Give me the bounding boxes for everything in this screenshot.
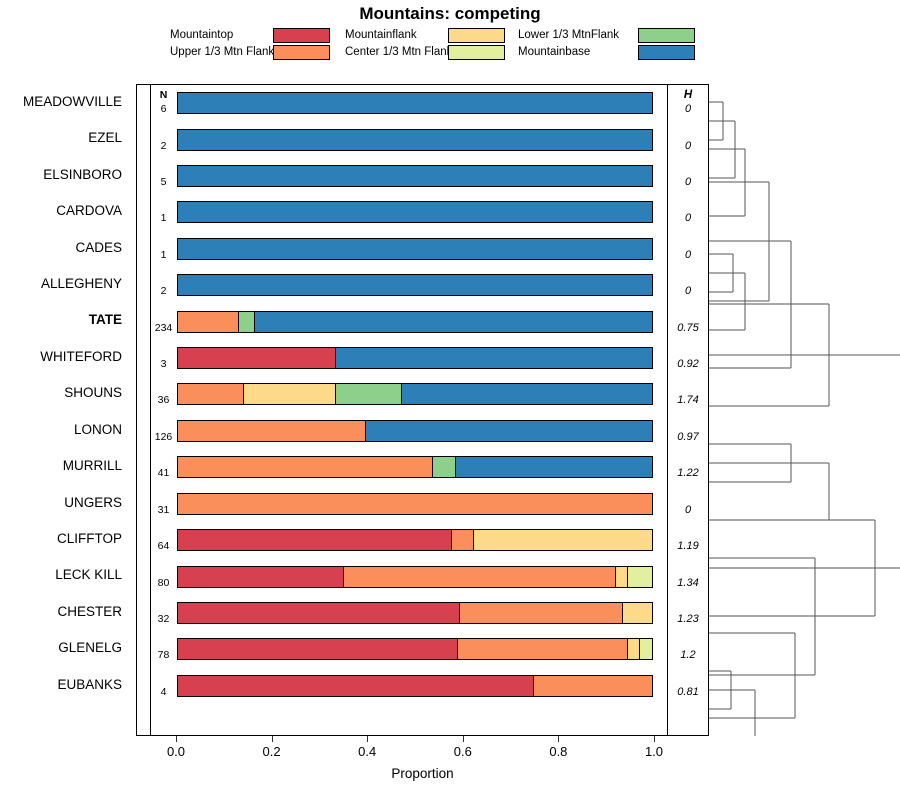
x-axis: Proportion 0.00.20.40.60.81.0 — [136, 736, 709, 796]
h-value: 0 — [668, 176, 708, 188]
plot-panel: N H 6020501010202340.7530.92361.741260.9… — [136, 84, 709, 736]
y-axis-label: MURRILL — [63, 448, 122, 484]
n-value: 2 — [151, 141, 176, 152]
h-value: 1.74 — [668, 394, 708, 406]
bar-row: 50 — [137, 158, 708, 194]
y-axis-label: UNGERS — [64, 485, 122, 521]
legend-swatch-upper13 — [273, 45, 330, 60]
bar-segment[interactable] — [452, 530, 474, 550]
bar-segment[interactable] — [178, 275, 652, 295]
bar-segment[interactable] — [628, 567, 652, 587]
bar-row: 641.19 — [137, 522, 708, 558]
h-value: 0 — [668, 249, 708, 261]
h-value: 0.81 — [668, 686, 708, 698]
n-value: 2 — [151, 286, 176, 297]
legend-item-mountaintop: Mountaintop — [170, 27, 330, 44]
y-axis-label: SHOUNS — [64, 375, 122, 411]
y-axis-label: ALLEGHENY — [41, 266, 122, 302]
x-axis-tick — [654, 736, 655, 742]
bar-segment[interactable] — [336, 348, 652, 368]
dendrogram — [709, 84, 900, 736]
x-axis-tick-label: 0.6 — [443, 744, 483, 759]
bar-segment[interactable] — [178, 166, 652, 186]
n-value: 3 — [151, 359, 176, 370]
dendrogram-svg — [709, 84, 900, 736]
bar-row: 801.34 — [137, 558, 708, 594]
n-value: 80 — [151, 578, 176, 589]
y-axis-label: CHESTER — [57, 594, 122, 630]
legend-item-center13: Center 1/3 Mtn Flank — [345, 44, 505, 61]
bar-segment[interactable] — [616, 567, 628, 587]
bar-segment[interactable] — [456, 457, 652, 477]
bar-segment[interactable] — [178, 530, 452, 550]
bar-row: 361.74 — [137, 376, 708, 412]
legend-label-mountainbase: Mountainbase — [518, 45, 590, 60]
bar-segment[interactable] — [178, 130, 652, 150]
chart-root: Mountains: competing Mountaintop Upper 1… — [0, 0, 900, 800]
h-value: 1.19 — [668, 540, 708, 552]
stacked-bar[interactable] — [177, 566, 653, 588]
y-axis-label: ELSINBORO — [43, 157, 122, 193]
stacked-bar[interactable] — [177, 602, 653, 624]
h-value: 0 — [668, 103, 708, 115]
chart-title: Mountains: competing — [0, 4, 900, 24]
bar-row: 321.23 — [137, 595, 708, 631]
bar-row: 30.92 — [137, 340, 708, 376]
bar-row: 40.81 — [137, 668, 708, 704]
bar-segment[interactable] — [178, 93, 652, 113]
y-axis-label: GLENELG — [58, 630, 122, 666]
stacked-bar[interactable] — [177, 529, 653, 551]
h-value: 0 — [668, 504, 708, 516]
y-axis-label: EZEL — [88, 120, 122, 156]
legend-swatch-mountainbase — [638, 45, 695, 60]
stacked-bar[interactable] — [177, 165, 653, 187]
legend-swatch-lower13 — [638, 28, 695, 43]
h-value: 0 — [668, 140, 708, 152]
stacked-bar[interactable] — [177, 274, 653, 296]
h-value: 0 — [668, 212, 708, 224]
legend-column-1: Mountainflank Center 1/3 Mtn Flank — [345, 27, 505, 61]
legend-swatch-center13 — [448, 45, 505, 60]
bar-segment[interactable] — [178, 312, 239, 332]
n-value: 41 — [151, 468, 176, 479]
n-value: 36 — [151, 395, 176, 406]
n-value: 1 — [151, 213, 176, 224]
stacked-bar[interactable] — [177, 456, 653, 478]
n-value: 32 — [151, 614, 176, 625]
bar-segment[interactable] — [178, 348, 336, 368]
bar-segment[interactable] — [640, 639, 652, 659]
legend-label-center13: Center 1/3 Mtn Flank — [345, 45, 452, 60]
n-value: 78 — [151, 650, 176, 661]
n-value: 64 — [151, 541, 176, 552]
stacked-bar[interactable] — [177, 238, 653, 260]
stacked-bar[interactable] — [177, 347, 653, 369]
y-axis-label: CADES — [75, 230, 122, 266]
bar-segment[interactable] — [178, 457, 433, 477]
legend-label-upper13: Upper 1/3 Mtn Flank — [170, 45, 274, 60]
bar-segment[interactable] — [623, 603, 652, 623]
x-axis-tick — [272, 736, 273, 742]
stacked-bar[interactable] — [177, 92, 653, 114]
x-axis-tick — [558, 736, 559, 742]
x-axis-tick-label: 0.8 — [538, 744, 578, 759]
bar-row: 10 — [137, 231, 708, 267]
legend-item-lower13: Lower 1/3 MtnFlank — [518, 27, 678, 44]
bar-row: 20 — [137, 121, 708, 157]
n-value: 1 — [151, 250, 176, 261]
bar-segment[interactable] — [178, 421, 366, 441]
y-axis-label: TATE — [89, 302, 122, 338]
x-axis-tick-label: 0.2 — [252, 744, 292, 759]
bar-segment[interactable] — [433, 457, 456, 477]
bar-row: 781.2 — [137, 631, 708, 667]
stacked-bar[interactable] — [177, 675, 653, 697]
bar-segment[interactable] — [474, 530, 652, 550]
h-value: 0.92 — [668, 358, 708, 370]
stacked-bar[interactable] — [177, 638, 653, 660]
x-axis-title: Proportion — [136, 766, 709, 781]
x-axis-tick-label: 0.0 — [156, 744, 196, 759]
bar-segment[interactable] — [255, 312, 652, 332]
y-axis-label: LONON — [74, 412, 122, 448]
bar-segment[interactable] — [178, 603, 460, 623]
bar-rows: 6020501010202340.7530.92361.741260.97411… — [137, 85, 708, 704]
y-axis-label: EUBANKS — [57, 667, 122, 703]
h-value: 1.2 — [668, 649, 708, 661]
bar-row: 2340.75 — [137, 303, 708, 339]
bar-row: 411.22 — [137, 449, 708, 485]
stacked-bar[interactable] — [177, 311, 653, 333]
x-axis-tick — [176, 736, 177, 742]
legend-column-2: Lower 1/3 MtnFlank Mountainbase — [518, 27, 678, 61]
y-axis-label: LECK KILL — [55, 557, 122, 593]
bar-segment[interactable] — [178, 239, 652, 259]
y-axis-label: CARDOVA — [56, 193, 122, 229]
legend-item-mountainbase: Mountainbase — [518, 44, 678, 61]
bar-segment[interactable] — [239, 312, 255, 332]
h-value: 0 — [668, 285, 708, 297]
n-value: 31 — [151, 505, 176, 516]
y-axis-label: MEADOWVILLE — [23, 84, 122, 120]
y-axis-label: CLIFFTOP — [57, 521, 122, 557]
legend-swatch-mountaintop — [273, 28, 330, 43]
bar-row: 1260.97 — [137, 413, 708, 449]
bar-segment[interactable] — [344, 567, 617, 587]
bar-segment[interactable] — [458, 639, 628, 659]
n-value: 6 — [151, 104, 176, 115]
legend-item-upper13: Upper 1/3 Mtn Flank — [170, 44, 330, 61]
x-axis-tick-label: 1.0 — [634, 744, 674, 759]
stacked-bar[interactable] — [177, 129, 653, 151]
x-axis-tick-label: 0.4 — [347, 744, 387, 759]
bar-segment[interactable] — [178, 639, 458, 659]
bar-segment[interactable] — [178, 202, 652, 222]
h-value: 1.22 — [668, 467, 708, 479]
bar-segment[interactable] — [460, 603, 623, 623]
y-axis-labels: MEADOWVILLEEZELELSINBOROCARDOVACADESALLE… — [0, 84, 130, 703]
bar-segment[interactable] — [366, 421, 652, 441]
legend-item-mountainflank: Mountainflank — [345, 27, 505, 44]
n-value: 234 — [151, 323, 176, 334]
bar-segment[interactable] — [628, 639, 640, 659]
x-axis-tick — [367, 736, 368, 742]
legend-label-mountaintop: Mountaintop — [170, 28, 233, 43]
h-value: 1.34 — [668, 577, 708, 589]
bar-segment[interactable] — [178, 384, 244, 404]
legend-label-mountainflank: Mountainflank — [345, 28, 417, 43]
legend: Mountaintop Upper 1/3 Mtn Flank Mountain… — [170, 27, 690, 61]
h-value: 0.75 — [668, 322, 708, 334]
n-value: 5 — [151, 177, 176, 188]
h-value: 1.23 — [668, 613, 708, 625]
bar-segment[interactable] — [178, 567, 344, 587]
bar-row: 20 — [137, 267, 708, 303]
bar-row: 60 — [137, 85, 708, 121]
bar-segment[interactable] — [244, 384, 336, 404]
bar-segment[interactable] — [178, 676, 534, 696]
bar-segment[interactable] — [534, 676, 653, 696]
legend-column-0: Mountaintop Upper 1/3 Mtn Flank — [170, 27, 330, 61]
n-value: 126 — [151, 432, 176, 443]
n-value: 4 — [151, 687, 176, 698]
h-value: 0.97 — [668, 431, 708, 443]
stacked-bar[interactable] — [177, 383, 653, 405]
stacked-bar[interactable] — [177, 493, 653, 515]
stacked-bar[interactable] — [177, 420, 653, 442]
bar-row: 310 — [137, 486, 708, 522]
stacked-bar[interactable] — [177, 201, 653, 223]
legend-label-lower13: Lower 1/3 MtnFlank — [518, 28, 619, 43]
bar-segment[interactable] — [336, 384, 402, 404]
legend-swatch-mountainflank — [448, 28, 505, 43]
bar-segment[interactable] — [402, 384, 652, 404]
bar-segment[interactable] — [178, 494, 652, 514]
x-axis-tick — [463, 736, 464, 742]
y-axis-label: WHITEFORD — [40, 339, 122, 375]
bar-row: 10 — [137, 194, 708, 230]
